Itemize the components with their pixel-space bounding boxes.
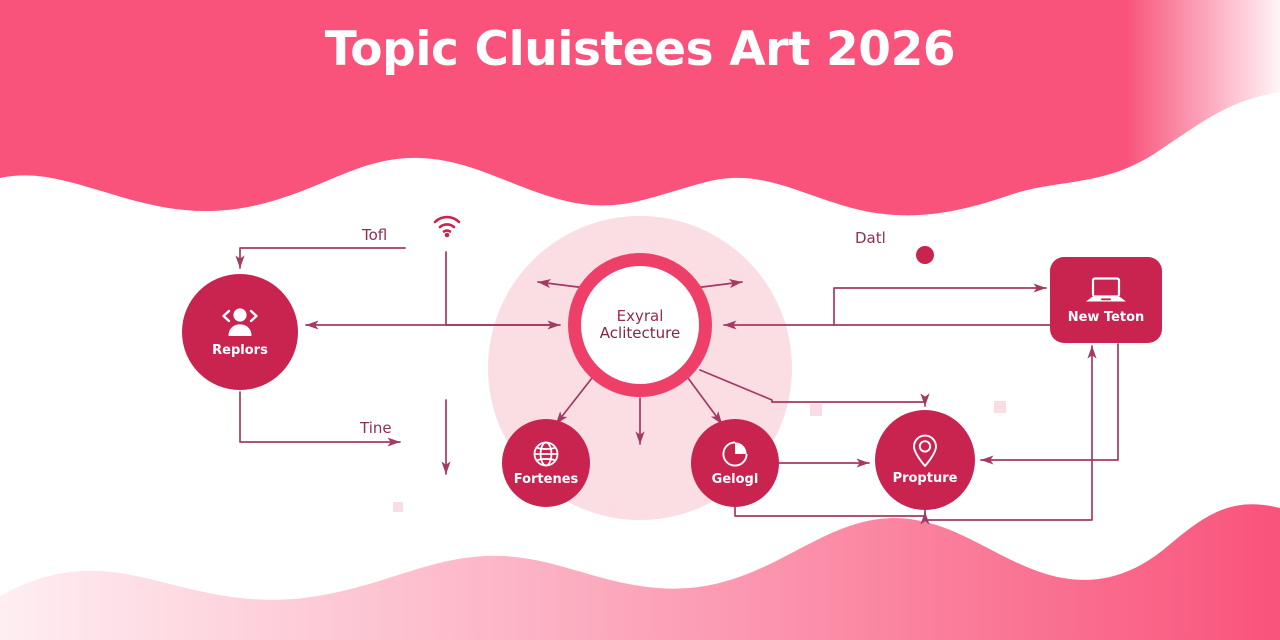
edge-hub-to-fortenes [556,378,592,424]
pie-chart-icon [720,439,750,469]
central-hub[interactable]: Exyral Aclitecture [568,253,712,397]
edge-datl-to-teton [834,288,1046,325]
node-propture[interactable]: Propture [875,410,975,510]
decorative-square [609,506,619,516]
node-label-gelogl: Gelogl [712,472,759,487]
users-icon [219,306,261,340]
edge-tofl-to-replors [240,248,405,268]
hub-line-2: Aclitecture [600,325,680,342]
node-label-new-teton: New Teton [1068,310,1145,325]
node-replors[interactable]: Replors [182,274,298,390]
edge-label-tine: Tine [360,419,392,437]
decorative-square [810,404,822,416]
wifi-icon [432,212,462,242]
laptop-icon [1084,275,1128,307]
edge-label-tofl: Tofl [362,226,387,244]
node-gelogl[interactable]: Gelogl [691,419,779,507]
edge-wifi-to-hub [446,252,560,325]
decorative-square [994,401,1006,413]
globe-icon [531,439,561,469]
node-label-fortenes: Fortenes [514,472,579,487]
hub-line-1: Exyral [617,308,664,325]
node-fortenes[interactable]: Fortenes [502,419,590,507]
datl-endpoint-dot [916,246,934,264]
decorative-square [393,502,403,512]
map-pin-icon [910,434,940,468]
node-new-teton[interactable]: New Teton [1050,257,1162,343]
node-label-propture: Propture [893,471,958,486]
edge-hub-to-propture [700,370,925,406]
edge-hub-to-gelogl [688,378,722,424]
edge-label-datl: Datl [855,229,886,247]
edge-gelogl-loop-propture [735,507,925,516]
diagram-canvas: Topic Cluistees Art 2026 [0,0,1280,640]
node-label-replors: Replors [212,343,268,358]
